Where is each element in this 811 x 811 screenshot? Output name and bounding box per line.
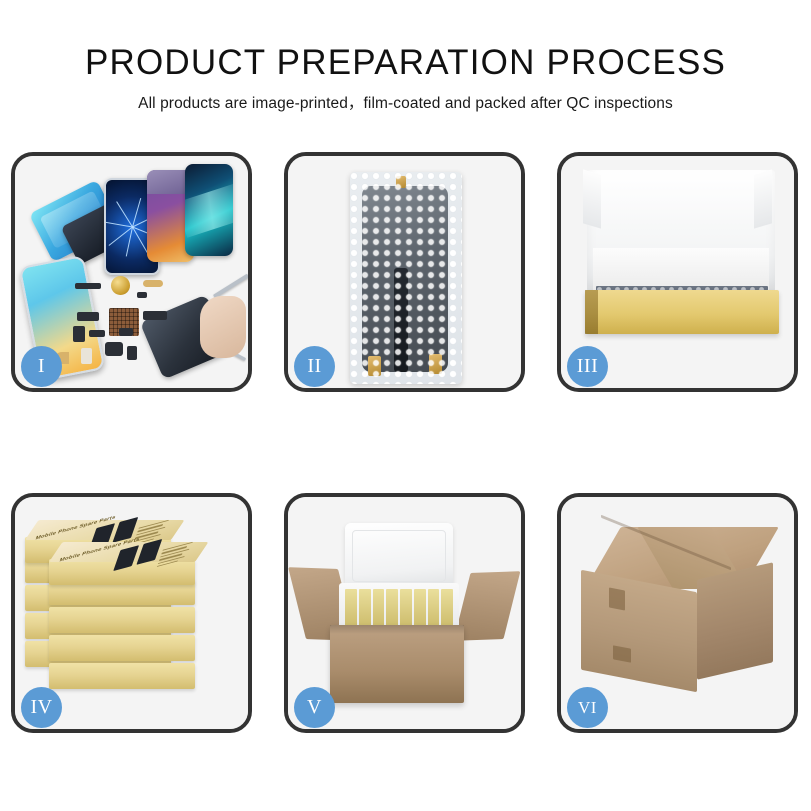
carton-body-icon: [330, 625, 464, 703]
carton-side-face: [697, 562, 773, 680]
component-part: [105, 342, 123, 356]
inner-box: [359, 589, 371, 627]
page-subtitle: All products are image-printed，film-coat…: [0, 82, 811, 113]
tweezer-tool-icon: [213, 274, 248, 299]
teal-phone-icon: [185, 164, 233, 256]
box-stack: Mobile Phone Spare Parts: [25, 519, 243, 711]
process-step-1: I: [11, 152, 252, 392]
tray-edge-shadow: [585, 290, 598, 334]
box-lid-print: Mobile Phone Spare Parts: [25, 520, 184, 540]
inner-box: [386, 589, 398, 627]
process-step-4: Mobile Phone Spare Parts: [11, 493, 252, 733]
lid-flap-right: [754, 169, 772, 228]
process-step-6: VI: [557, 493, 798, 733]
component-part: [89, 330, 105, 337]
yellow-box-tray-icon: [585, 290, 779, 334]
stacked-box: [49, 663, 195, 689]
process-step-grid: I II: [11, 152, 800, 733]
stacked-box: [49, 607, 195, 633]
step-badge-3: III: [567, 346, 608, 387]
stacked-box: [49, 635, 195, 661]
carton-front-face: [581, 570, 697, 693]
component-part: [143, 311, 167, 320]
component-part: [137, 292, 147, 298]
inner-box: [400, 589, 412, 627]
component-part: [143, 280, 163, 287]
component-part: [119, 328, 133, 336]
component-part: [127, 346, 137, 360]
step-badge-1: I: [21, 346, 62, 387]
inner-box: [373, 589, 385, 627]
gold-coil-icon: [111, 276, 130, 295]
header: PRODUCT PREPARATION PROCESS All products…: [0, 0, 811, 113]
component-part: [73, 326, 85, 342]
foam-lid-icon: [345, 523, 453, 589]
stacked-box-top-front: Mobile Phone Spare Parts: [49, 559, 195, 585]
component-part: [77, 312, 99, 321]
box-lid-print: Mobile Phone Spare Parts: [49, 542, 208, 562]
inner-boxes-group: [345, 589, 453, 627]
step-badge-6: VI: [567, 687, 608, 728]
step-badge-2: II: [294, 346, 335, 387]
spec-lines: [156, 541, 195, 569]
inner-box: [441, 589, 453, 627]
product-preparation-infographic: PRODUCT PREPARATION PROCESS All products…: [0, 0, 811, 811]
page-title: PRODUCT PREPARATION PROCESS: [0, 0, 811, 82]
step-badge-5: V: [294, 687, 335, 728]
inner-box: [428, 589, 440, 627]
lid-flap-left: [583, 169, 601, 228]
product-thumbnail: [113, 545, 139, 571]
bubble-texture-overlay: [350, 172, 462, 384]
hand-icon: [200, 296, 246, 358]
step-badge-4: IV: [21, 687, 62, 728]
inner-box: [414, 589, 426, 627]
carton-tape: [609, 587, 625, 610]
process-step-5: V: [284, 493, 525, 733]
foam-sheet-icon: [593, 248, 769, 290]
inner-box: [345, 589, 357, 627]
component-part: [75, 283, 101, 289]
component-part: [81, 348, 92, 364]
process-step-2: II: [284, 152, 525, 392]
process-step-3: III: [557, 152, 798, 392]
bubble-wrap-bag-icon: [350, 172, 462, 384]
